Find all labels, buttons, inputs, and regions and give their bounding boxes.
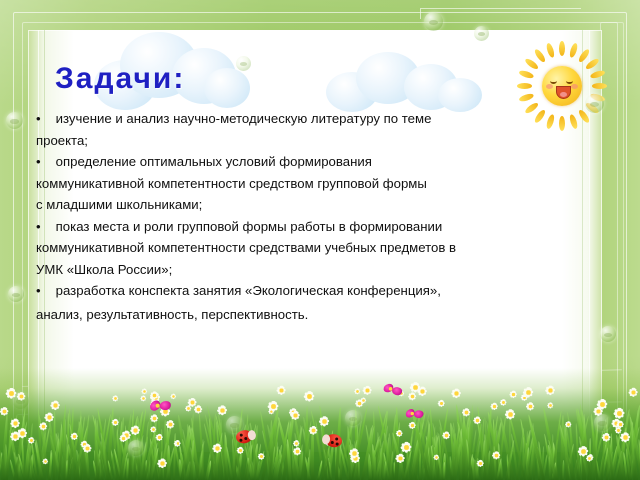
bullet-text: проекта; [36, 130, 584, 152]
slide: Задачи: • изучение и анализ научно-метод… [0, 0, 640, 480]
list-item: • изучение и анализ научно-методическую … [36, 108, 584, 151]
bullet-text: коммуникативной компетентности средствам… [36, 237, 584, 259]
bubble-decor-icon [6, 112, 23, 129]
bubble-decor-icon [600, 326, 616, 342]
bubble-decor-icon [424, 12, 443, 31]
list-item: • разработка конспекта занятия «Экологич… [36, 280, 584, 325]
list-item: • показ места и роли групповой формы раб… [36, 216, 584, 281]
task-list: • изучение и анализ научно-методическую … [36, 108, 584, 325]
frame-notch [420, 8, 581, 19]
bubble-decor-icon [236, 56, 251, 71]
bullet-text: анализ, результативность, перспективност… [36, 304, 584, 326]
bullet-text: показ места и роли групповой формы работ… [52, 219, 442, 234]
bubble-decor-icon [12, 392, 29, 409]
bullet-marker: • [36, 216, 52, 238]
bullet-text: УМК «Школа России»; [36, 259, 584, 281]
bullet-marker: • [36, 280, 52, 302]
bullet-text: разработка конспекта занятия «Экологичес… [52, 283, 441, 298]
bullet-marker: • [36, 108, 52, 130]
bubble-decor-icon [474, 26, 489, 41]
bullet-text: изучение и анализ научно-методическую ли… [52, 111, 431, 126]
bullet-text: коммуникативной компетентности средством… [36, 173, 584, 195]
page-title: Задачи: [55, 62, 185, 96]
bullet-text: с младшими школьниками; [36, 194, 584, 216]
sun-face-icon [542, 66, 582, 106]
list-item: • определение оптимальных условий формир… [36, 151, 584, 216]
bullet-marker: • [36, 151, 52, 173]
bubble-decor-icon [585, 94, 604, 113]
bullet-text: определение оптимальных условий формиров… [52, 154, 372, 169]
bubble-decor-icon [8, 286, 24, 302]
